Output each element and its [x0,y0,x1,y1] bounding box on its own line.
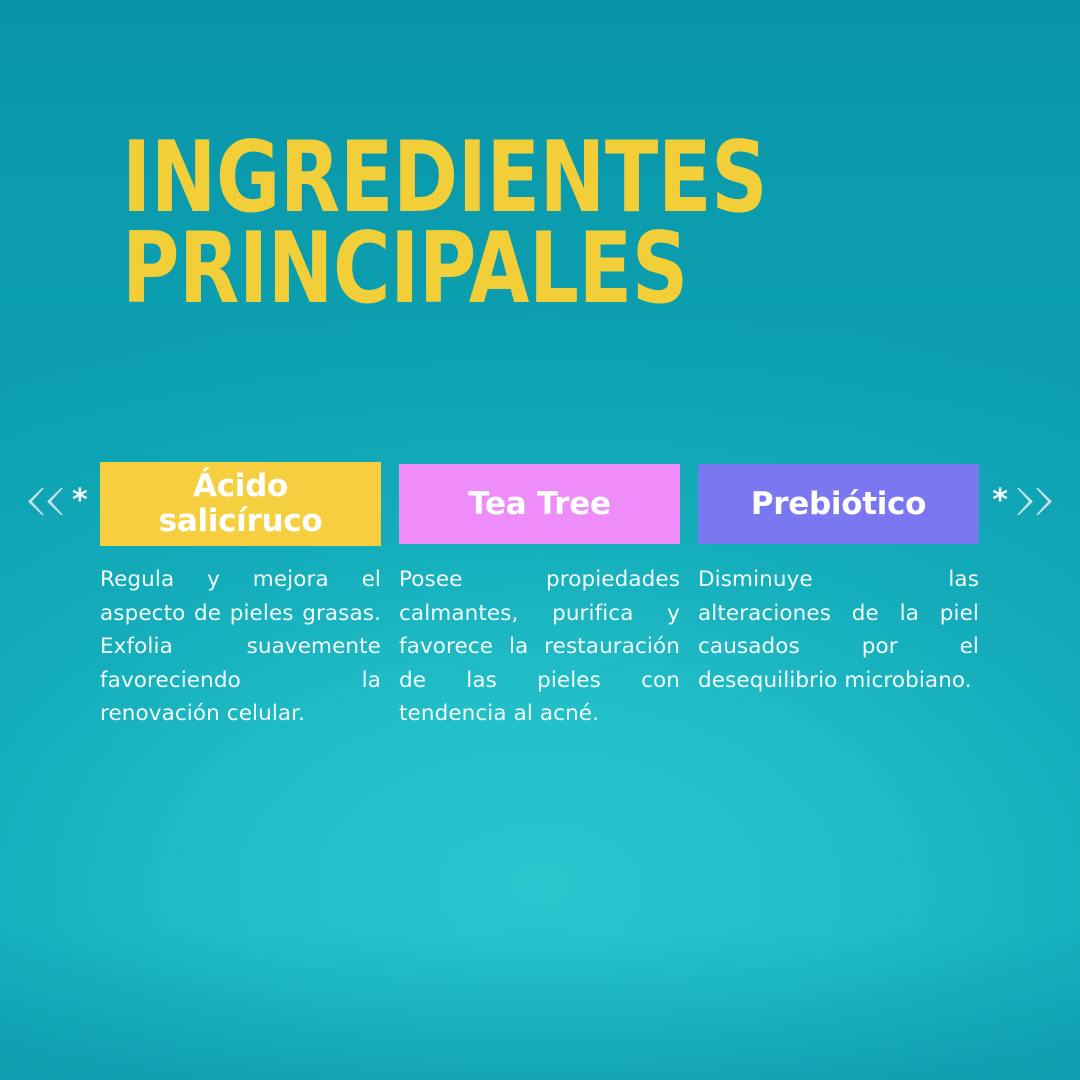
ingredient-description-0: Regula y mejora el aspecto de pieles gra… [100,563,381,731]
slide-canvas: INGREDIENTES PRINCIPALES * * Ácido [0,0,1080,1080]
ornament-right: * [992,486,1052,516]
ingredient-description-text-0: Regula y mejora el aspecto de pieles gra… [100,563,381,731]
ingredient-cards-row: Ácido salicíruco Tea Tree Prebiótico [100,462,980,546]
ingredient-description-text-2: Disminuye las alteraciones de la piel ca… [698,563,979,697]
ingredient-label-2: Prebiótico [751,487,926,522]
ornament-left: * [28,486,88,516]
chevron-left-icon [28,488,44,515]
ingredient-label-1: Tea Tree [468,487,610,522]
chevron-right-icon [1017,488,1033,515]
page-title-line-1: INGREDIENTES [122,133,767,224]
ingredient-label-0: Ácido salicíruco [110,469,371,538]
ingredient-description-text-1: Posee propiedades calmantes, purifica y … [399,563,680,731]
ingredient-descriptions-row: Regula y mejora el aspecto de pieles gra… [100,563,980,731]
ingredient-card-0: Ácido salicíruco [100,462,381,546]
double-chevron-right-icon [1017,488,1052,515]
page-title: INGREDIENTES PRINCIPALES [122,133,928,315]
ingredient-description-1: Posee propiedades calmantes, purifica y … [399,563,680,731]
double-chevron-left-icon [28,488,63,515]
chevron-left-icon [47,488,63,515]
ingredient-card-2: Prebiótico [698,464,979,544]
page-title-line-2: PRINCIPALES [122,224,767,315]
chevron-right-icon [1036,488,1052,515]
asterisk-icon: * [992,486,1008,516]
asterisk-icon: * [72,486,88,516]
ingredient-card-1: Tea Tree [399,464,680,544]
ingredient-description-2: Disminuye las alteraciones de la piel ca… [698,563,979,697]
